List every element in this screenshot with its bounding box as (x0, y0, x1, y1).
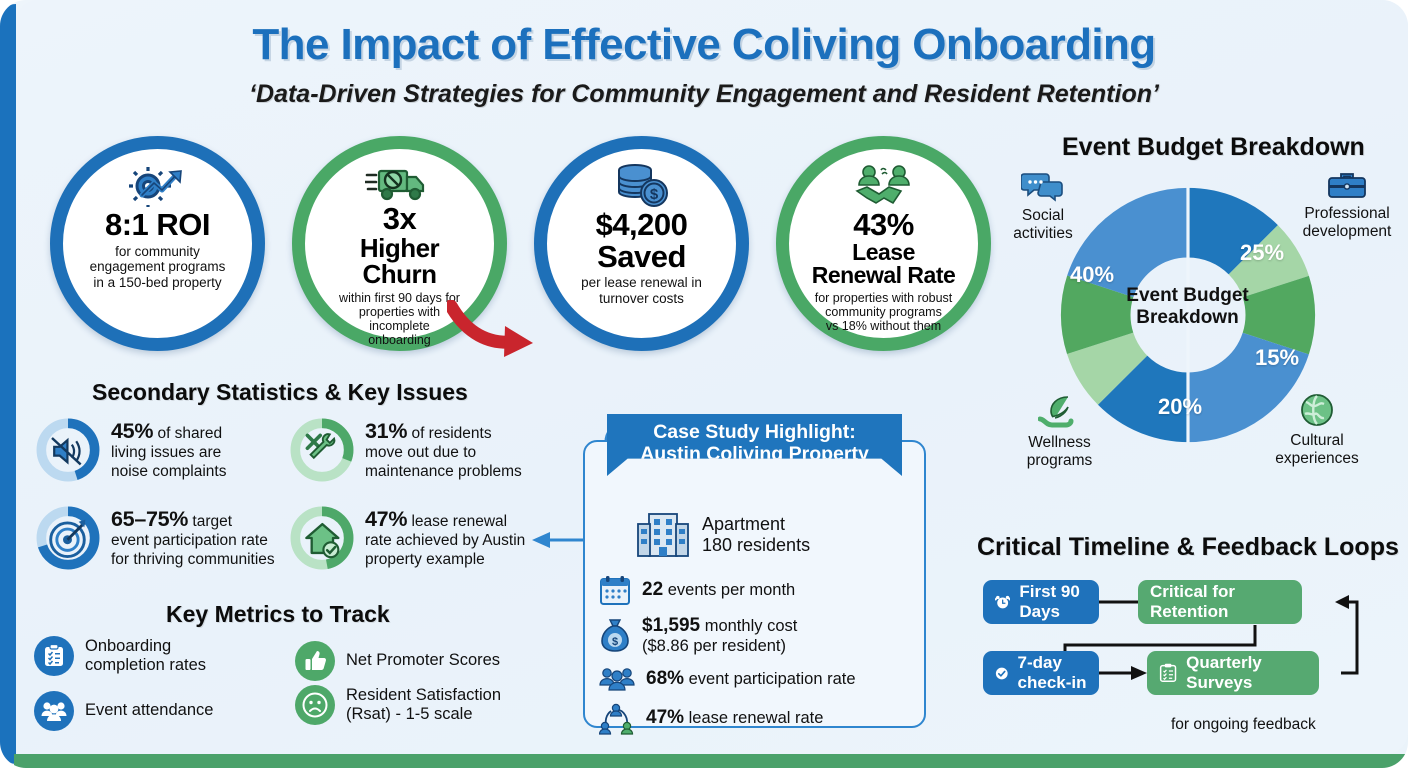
left-accent-bar (0, 4, 16, 764)
home-check-icon (306, 524, 338, 557)
secondary-stat-value: 65–75% (111, 507, 188, 531)
mute-speaker-icon (52, 438, 81, 464)
hero-stat-desc: for properties with robust community pro… (815, 291, 953, 334)
moving-truck-blocked-icon (365, 163, 435, 203)
people-group-icon (599, 666, 635, 694)
bottom-accent-bar (14, 754, 1408, 768)
target-dart-icon (51, 520, 86, 557)
donut-legend-label: Professional development (1288, 205, 1406, 240)
case-study-banner-line-1: Case Study Highlight: (607, 421, 902, 443)
key-metric-label: Net Promoter Scores (346, 651, 500, 670)
case-study-row-events: 22 events per month (599, 574, 910, 606)
people-group-icon (34, 691, 74, 731)
case-study-row-apartment: Apartment 180 residents (635, 510, 910, 560)
case-study-row-text: Apartment 180 residents (702, 514, 810, 556)
money-bag-icon: $ (599, 618, 631, 654)
secondary-stat-participation: 65–75% target event participation rate f… (36, 506, 286, 570)
donut-legend-label: Social activities (1000, 207, 1086, 242)
briefcase-icon (1327, 168, 1367, 200)
donut-legend-label: Wellness programs (1012, 434, 1107, 469)
svg-text:$: $ (649, 186, 658, 203)
hero-stat-value-2: Saved (597, 241, 686, 273)
timeline-node-label: First 90 Days (1019, 582, 1087, 622)
sad-face-icon (295, 685, 335, 725)
case-study-card: Apartment 180 residents 22 events per mo… (583, 440, 926, 728)
timeline-node-critical-for-retention[interactable]: Critical for Retention (1138, 580, 1302, 624)
red-curved-arrow (447, 300, 537, 360)
hero-stat-value-2: Higher Churn (323, 235, 476, 288)
donut-value-wellness-programs: 20% (1158, 394, 1202, 420)
hero-stat-roi: 8:1 ROI for community engagement program… (50, 136, 265, 351)
globe-icon (1299, 393, 1335, 427)
key-metric-onboarding: Onboarding completion rates (34, 636, 206, 676)
chart-title: Event Budget Breakdown (1062, 133, 1365, 162)
timeline-node-label: Critical for Retention (1150, 582, 1290, 622)
svg-text:$: $ (612, 636, 618, 648)
growth-gear-icon (126, 163, 190, 209)
secondary-stat-noise: 45% of shared living issues are noise co… (36, 418, 286, 482)
leaf-hand-icon (1038, 395, 1082, 429)
secondary-stat-value: 47% (365, 507, 407, 531)
resident-network-icon (599, 703, 635, 735)
key-metric-rsat: Resident Satisfaction (Rsat) - 1-5 scale (295, 685, 501, 725)
hero-stat-desc: within first 90 days for properties with… (339, 291, 460, 348)
timeline-node-first-90-days[interactable]: First 90 Days (983, 580, 1099, 624)
timeline-node-quarterly-surveys[interactable]: Quarterly Surveys (1147, 651, 1319, 695)
clipboard-checklist-icon (34, 636, 74, 676)
hero-stat-saved: $ $4,200 Saved per lease renewal in turn… (534, 136, 749, 351)
thumbs-up-icon (295, 641, 335, 681)
donut-legend-social-activities: Social activities (1000, 170, 1086, 242)
key-metric-label: Resident Satisfaction (Rsat) - 1-5 scale (346, 686, 501, 724)
case-study-row-text: 68% event participation rate (646, 668, 856, 690)
case-study-row-cost: $ $1,595 monthly cost ($8.86 per residen… (599, 615, 910, 657)
progress-ring (290, 418, 354, 482)
progress-ring (36, 418, 100, 482)
donut-value-social-activities: 40% (1070, 262, 1114, 288)
progress-ring (36, 506, 100, 570)
key-metric-attendance: Event attendance (34, 691, 213, 731)
donut-value-professional-development: 25% (1240, 240, 1284, 266)
clipboard-survey-icon (1159, 661, 1177, 685)
donut-legend-wellness-programs: Wellness programs (1012, 395, 1107, 469)
key-metrics-heading: Key Metrics to Track (166, 601, 390, 628)
secondary-stat-austin-renewal: 47% lease renewal rate achieved by Austi… (290, 506, 540, 570)
key-metric-nps: Net Promoter Scores (295, 641, 500, 681)
speech-bubbles-icon (1021, 170, 1065, 202)
hero-stat-value-2: Lease Renewal Rate (807, 241, 960, 288)
donut-legend-label: Cultural experiences (1262, 432, 1372, 467)
hero-stat-value: 8:1 ROI (105, 209, 210, 241)
infographic-poster: The Impact of Effective Coliving Onboard… (0, 0, 1408, 768)
progress-ring (290, 506, 354, 570)
timeline-heading: Critical Timeline & Feedback Loops (977, 533, 1399, 562)
timeline-node-label: Quarterly Surveys (1186, 653, 1307, 693)
donut-legend-cultural-experiences: Cultural experiences (1262, 393, 1372, 467)
secondary-stat-value: 31% (365, 419, 407, 443)
alarm-clock-icon (995, 590, 1010, 614)
case-study-row-text: 47% lease renewal rate (646, 707, 823, 729)
case-study-row-text: $1,595 monthly cost ($8.86 per resident) (642, 615, 797, 657)
key-metric-label: Event attendance (85, 701, 213, 720)
donut-value-cultural-experiences: 15% (1255, 345, 1299, 371)
page-subtitle: ‘Data-Driven Strategies for Community En… (0, 80, 1408, 109)
case-study-row-renewal: 47% lease renewal rate (599, 703, 910, 735)
secondary-stat-value: 45% (111, 419, 153, 443)
timeline-note: for ongoing feedback (1171, 716, 1316, 734)
hero-stat-value: 43% (853, 209, 914, 241)
hero-stat-desc: for community engagement programs in a 1… (90, 244, 226, 291)
tools-wrench-screwdriver-icon (307, 434, 334, 458)
key-metric-label: Onboarding completion rates (85, 637, 206, 675)
timeline-node-label: 7-day check-in (1018, 653, 1087, 693)
donut-center-label: Event Budget Breakdown (1115, 285, 1260, 328)
apartment-building-icon (635, 510, 691, 560)
case-study-row-text: 22 events per month (642, 579, 795, 601)
hero-stat-desc: per lease renewal in turnover costs (581, 275, 702, 306)
check-circle-icon (995, 662, 1009, 685)
timeline-node-7-day-check-in[interactable]: 7-day check-in (983, 651, 1099, 695)
case-study-row-participation: 68% event participation rate (599, 666, 910, 694)
timeline-diagram: First 90 Days Critical for Retention 7-d… (975, 570, 1375, 730)
handshake-people-icon (851, 163, 917, 209)
secondary-stats-heading: Secondary Statistics & Key Issues (92, 379, 468, 406)
hero-stat-value: 3x (383, 203, 416, 235)
secondary-stat-maintenance: 31% of residents move out due to mainten… (290, 418, 540, 482)
coins-dollar-icon: $ (613, 163, 671, 209)
hero-stat-renewal: 43% Lease Renewal Rate for properties wi… (776, 136, 991, 351)
hero-stat-value: $4,200 (596, 209, 688, 241)
calendar-icon (599, 574, 631, 606)
page-title: The Impact of Effective Coliving Onboard… (0, 20, 1408, 70)
case-study-rows: Apartment 180 residents 22 events per mo… (585, 510, 924, 744)
donut-legend-professional-development: Professional development (1288, 168, 1406, 240)
